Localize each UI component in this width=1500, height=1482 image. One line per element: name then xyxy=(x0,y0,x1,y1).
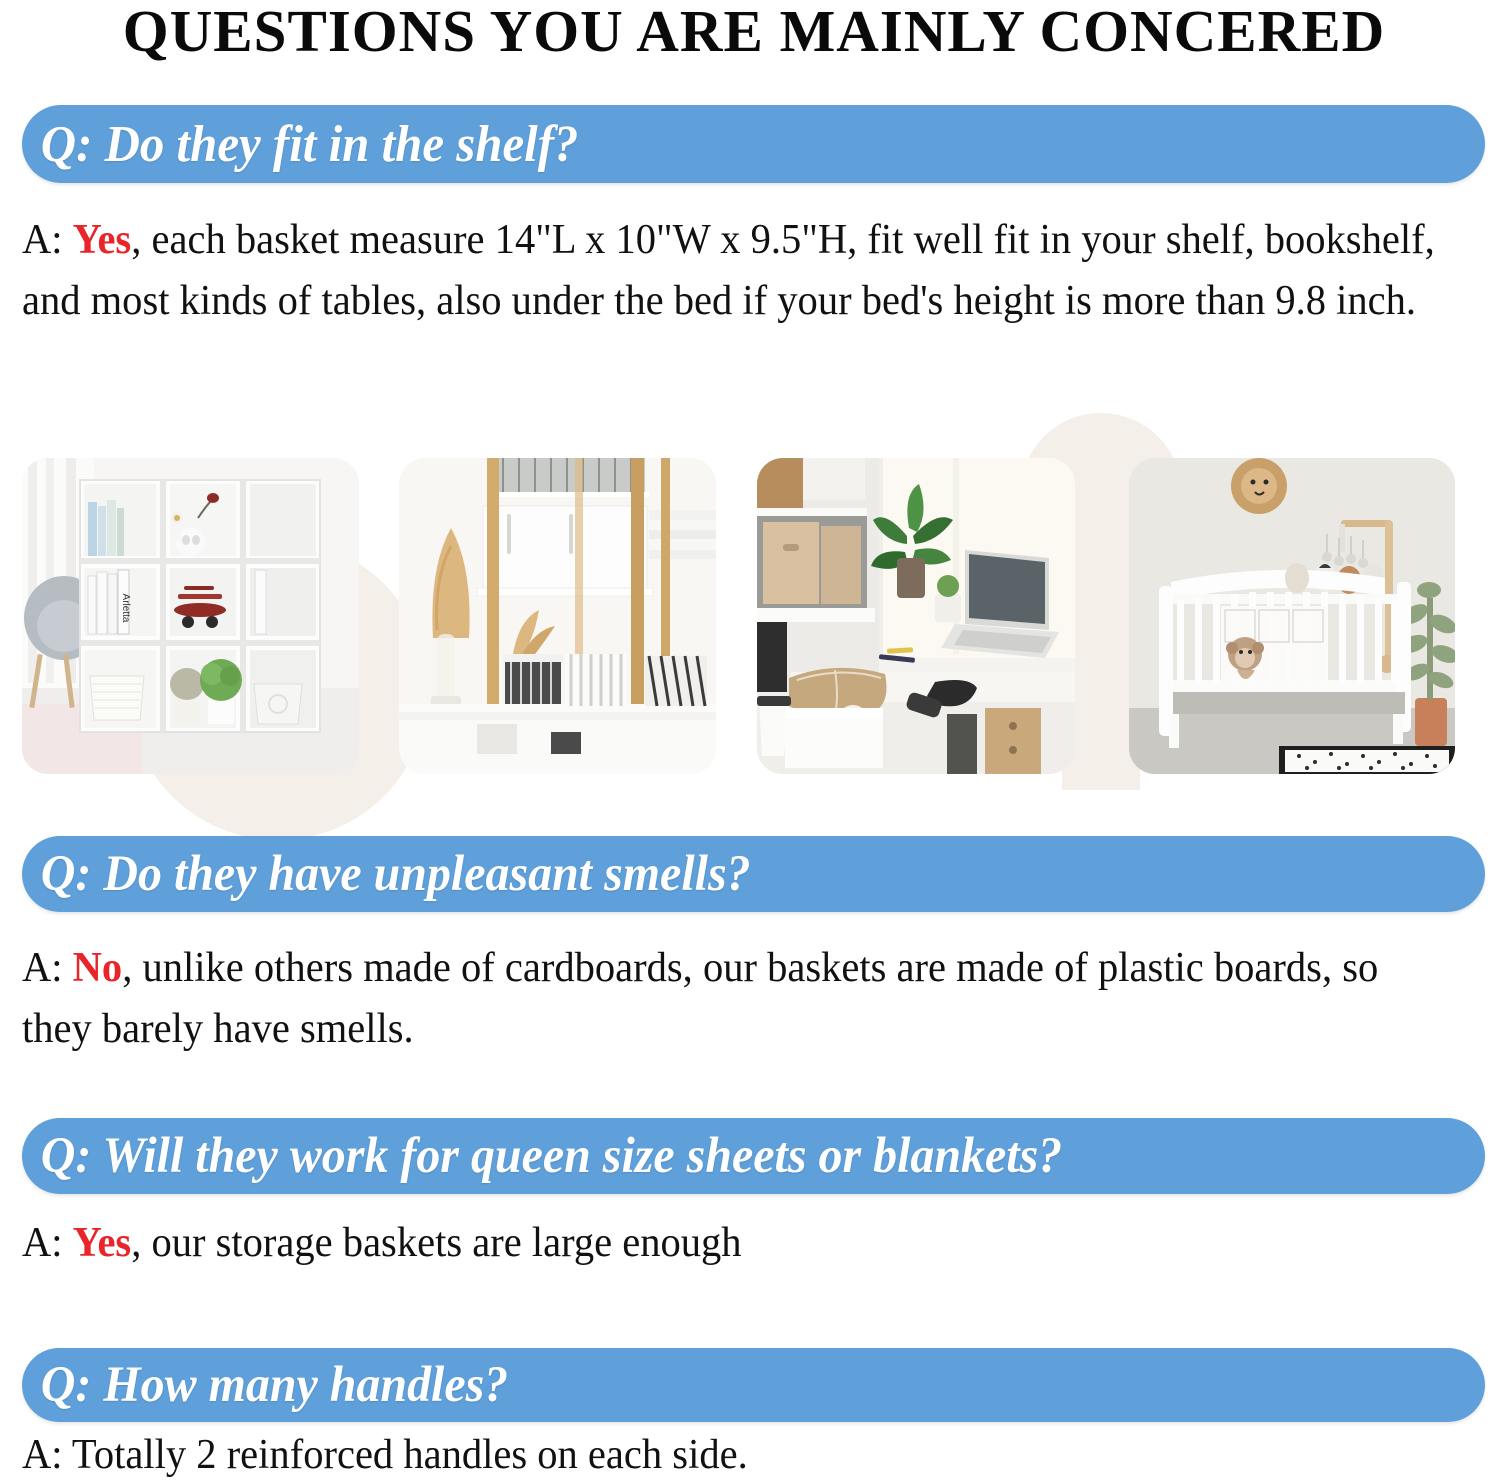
question-text-3: Q: Will they work for queen size sheets … xyxy=(22,1127,1062,1185)
answer-prefix-1: A: xyxy=(22,217,73,263)
answer-prefix-2: A: xyxy=(22,945,73,991)
photo-bamboo-shelving-unit xyxy=(399,458,716,774)
answer-highlight-3: Yes xyxy=(73,1220,132,1266)
answer-body-1: , each basket measure 14"L x 10"W x 9.5"… xyxy=(22,217,1435,324)
answer-prefix-3: A: xyxy=(22,1220,73,1266)
answer-text-2: A: No, unlike others made of cardboards,… xyxy=(22,938,1412,1060)
question-bar-2: Q: Do they have unpleasant smells? xyxy=(22,836,1485,912)
page-title: QUESTIONS YOU ARE MAINLY CONCERED xyxy=(8,0,1500,64)
answer-prefix-4: A: Totally 2 reinforced handles on each … xyxy=(22,1432,748,1478)
answer-highlight-1: Yes xyxy=(73,217,132,263)
answer-text-1: A: Yes, each basket measure 14"L x 10"W … xyxy=(22,210,1448,332)
question-text-2: Q: Do they have unpleasant smells? xyxy=(22,845,751,903)
question-bar-4: Q: How many handles? xyxy=(22,1348,1485,1422)
question-bar-3: Q: Will they work for queen size sheets … xyxy=(22,1118,1485,1194)
question-bar-1: Q: Do they fit in the shelf? xyxy=(22,105,1485,183)
photo-nursery-crib xyxy=(1129,458,1455,774)
answer-body-3: , our storage baskets are large enough xyxy=(131,1220,741,1266)
question-text-1: Q: Do they fit in the shelf? xyxy=(22,115,578,174)
svg-text:Arletta: Arletta xyxy=(120,594,131,623)
answer-highlight-2: No xyxy=(73,945,123,991)
question-text-4: Q: How many handles? xyxy=(22,1356,508,1414)
photo-white-cube-bookshelf-living-room: Arletta xyxy=(22,458,359,774)
faq-infographic-page: QUESTIONS YOU ARE MAINLY CONCERED Q: Do … xyxy=(0,0,1500,1482)
answer-text-3: A: Yes, our storage baskets are large en… xyxy=(22,1213,1412,1274)
answer-body-2: , unlike others made of cardboards, our … xyxy=(22,945,1378,1052)
photo-home-office-desk xyxy=(757,458,1075,774)
answer-text-4: A: Totally 2 reinforced handles on each … xyxy=(22,1425,1412,1482)
